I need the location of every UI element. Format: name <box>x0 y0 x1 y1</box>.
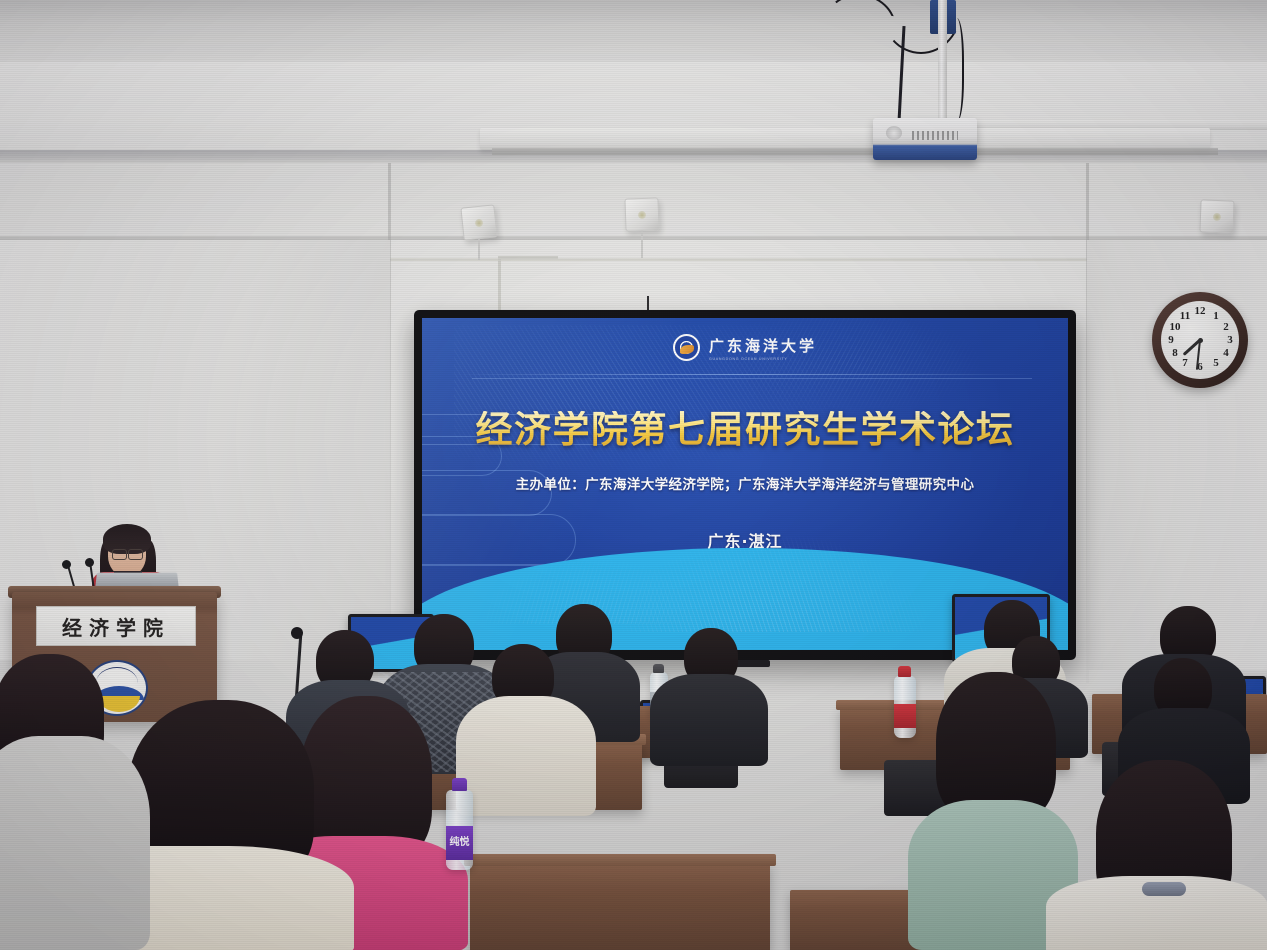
wall-speaker <box>624 197 659 231</box>
clock-numeral: 1 <box>1209 311 1223 322</box>
university-name-en: GUANGDONG OCEAN UNIVERSITY <box>709 357 817 361</box>
slide-hairline <box>472 378 1032 379</box>
wall-conduit <box>498 256 558 259</box>
ceiling-light-housing <box>480 128 1210 150</box>
projector-vent <box>912 131 958 140</box>
clock-face: 12 1 2 3 4 5 6 7 8 9 10 11 <box>1161 301 1239 379</box>
wall-conduit <box>498 258 501 310</box>
clock-numeral: 2 <box>1219 322 1233 333</box>
bottle-label <box>894 704 916 728</box>
speaker-wire <box>641 230 643 258</box>
clock-numeral: 11 <box>1178 311 1192 322</box>
slide-title: 经济学院第七届研究生学术论坛 <box>422 411 1068 448</box>
wall-speaker <box>460 204 497 240</box>
desk-edge <box>464 854 776 866</box>
water-bottle-red <box>894 676 916 738</box>
bottle-cap <box>452 778 467 791</box>
clock-numeral: 12 <box>1193 306 1207 317</box>
ceiling-rail <box>492 148 1218 155</box>
water-bottle-purple: 纯悦 <box>446 790 473 870</box>
ceiling-slab <box>0 0 1267 62</box>
projector-lens <box>886 126 902 140</box>
microphone-head <box>85 558 94 567</box>
bottle-label: 纯悦 <box>446 826 473 860</box>
podium-nameplate-text: 经济学院 <box>62 612 170 641</box>
clock-center-pin <box>1198 338 1203 343</box>
person-torso <box>650 674 768 766</box>
slide-divider-rule <box>460 374 1030 375</box>
podium-nameplate: 经济学院 <box>36 606 196 646</box>
person-torso <box>0 736 150 950</box>
slide-organizers: 主办单位：广东海洋大学经济学院；广东海洋大学海洋经济与管理研究中心 <box>422 473 1068 493</box>
wall-speaker <box>1199 199 1234 233</box>
university-name-cn: 广东海洋大学 <box>709 335 817 356</box>
crest-arc <box>96 667 138 683</box>
university-logo: 广东海洋大学 GUANGDONG OCEAN UNIVERSITY <box>673 334 817 361</box>
university-emblem-icon <box>673 334 700 361</box>
clock-numeral: 8 <box>1168 348 1182 359</box>
presenter-glasses <box>112 549 143 558</box>
clock-numeral: 3 <box>1223 335 1237 346</box>
microphone-head <box>291 627 303 639</box>
lecture-hall-photo: 12 1 2 3 4 5 6 7 8 9 10 11 <box>0 0 1267 950</box>
university-logo-text: 广东海洋大学 GUANGDONG OCEAN UNIVERSITY <box>709 335 817 361</box>
clock-numeral: 7 <box>1178 358 1192 369</box>
clock-numeral: 5 <box>1209 358 1223 369</box>
crest-yellow-band <box>98 696 140 712</box>
clock-numeral: 10 <box>1168 322 1182 333</box>
speaker-wire <box>478 238 480 260</box>
wall-clock: 12 1 2 3 4 5 6 7 8 9 10 11 <box>1152 292 1248 388</box>
bottle-cap <box>653 664 664 673</box>
topographic-pattern <box>693 318 990 418</box>
desk <box>470 862 770 950</box>
bottle-cap <box>898 666 911 677</box>
hair-scrunchie <box>1142 882 1186 896</box>
projector-mount-pole <box>938 0 947 118</box>
person-torso <box>456 696 596 816</box>
clock-numeral: 9 <box>1164 335 1178 346</box>
microphone-head <box>62 560 71 569</box>
